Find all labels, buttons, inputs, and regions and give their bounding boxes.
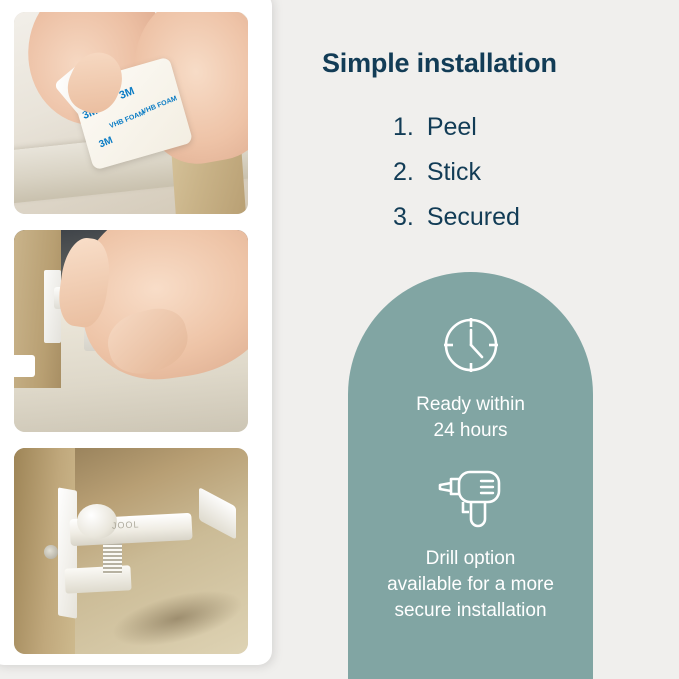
step-label: Secured [427, 203, 520, 231]
step-label: Peel [427, 113, 477, 141]
peel-photo-canvas: 3M VHB FOAM 3M VHB FOAM 3M [14, 12, 248, 214]
clock-icon [440, 314, 502, 376]
secured-lock-photo[interactable]: JOOL [14, 448, 248, 654]
peel-adhesive-photo[interactable]: 3M VHB FOAM 3M VHB FOAM 3M [14, 12, 248, 214]
photo-panel: 3M VHB FOAM 3M VHB FOAM 3M [0, 0, 272, 665]
step-item-secured: 3. Secured [393, 195, 520, 240]
content-column: Simple installation 1. Peel 2. Stick 3. … [300, 0, 679, 679]
step-label: Stick [427, 158, 481, 186]
lock-mounting-plate [58, 488, 77, 619]
brand-mark: JOOL [112, 519, 140, 530]
feature-drill-line3: secure installation [354, 598, 587, 624]
drawer-notch [14, 355, 35, 377]
step-number: 1. [393, 113, 414, 141]
drill-icon [433, 468, 509, 530]
stick-photo-canvas [14, 230, 248, 432]
step-number: 3. [393, 203, 414, 231]
installation-steps: 1. Peel 2. Stick 3. Secured [393, 105, 520, 240]
feature-drill-text: Drill option available for a more secure… [348, 546, 593, 624]
feature-ready-line1: Ready within [362, 392, 579, 418]
feature-drill-line1: Drill option [354, 546, 587, 572]
info-card: Ready within 24 hours [348, 272, 593, 679]
adhesive-type-label-2: VHB FOAM [140, 95, 177, 115]
stick-lock-photo[interactable] [14, 230, 248, 432]
page-title: Simple installation [322, 48, 557, 79]
feature-ready-text: Ready within 24 hours [348, 392, 593, 444]
feature-ready-within: Ready within 24 hours [348, 314, 593, 444]
feature-ready-line2: 24 hours [362, 418, 579, 444]
feature-drill-line2: available for a more [354, 572, 587, 598]
adhesive-type-label: VHB FOAM [108, 109, 145, 129]
step-number: 2. [393, 158, 414, 186]
adhesive-brand-label-3: 3M [97, 135, 114, 150]
step-item-peel: 1. Peel [393, 105, 520, 150]
step-item-stick: 2. Stick [393, 150, 520, 195]
secured-photo-canvas: JOOL [14, 448, 248, 654]
feature-drill-option: Drill option available for a more secure… [348, 468, 593, 624]
